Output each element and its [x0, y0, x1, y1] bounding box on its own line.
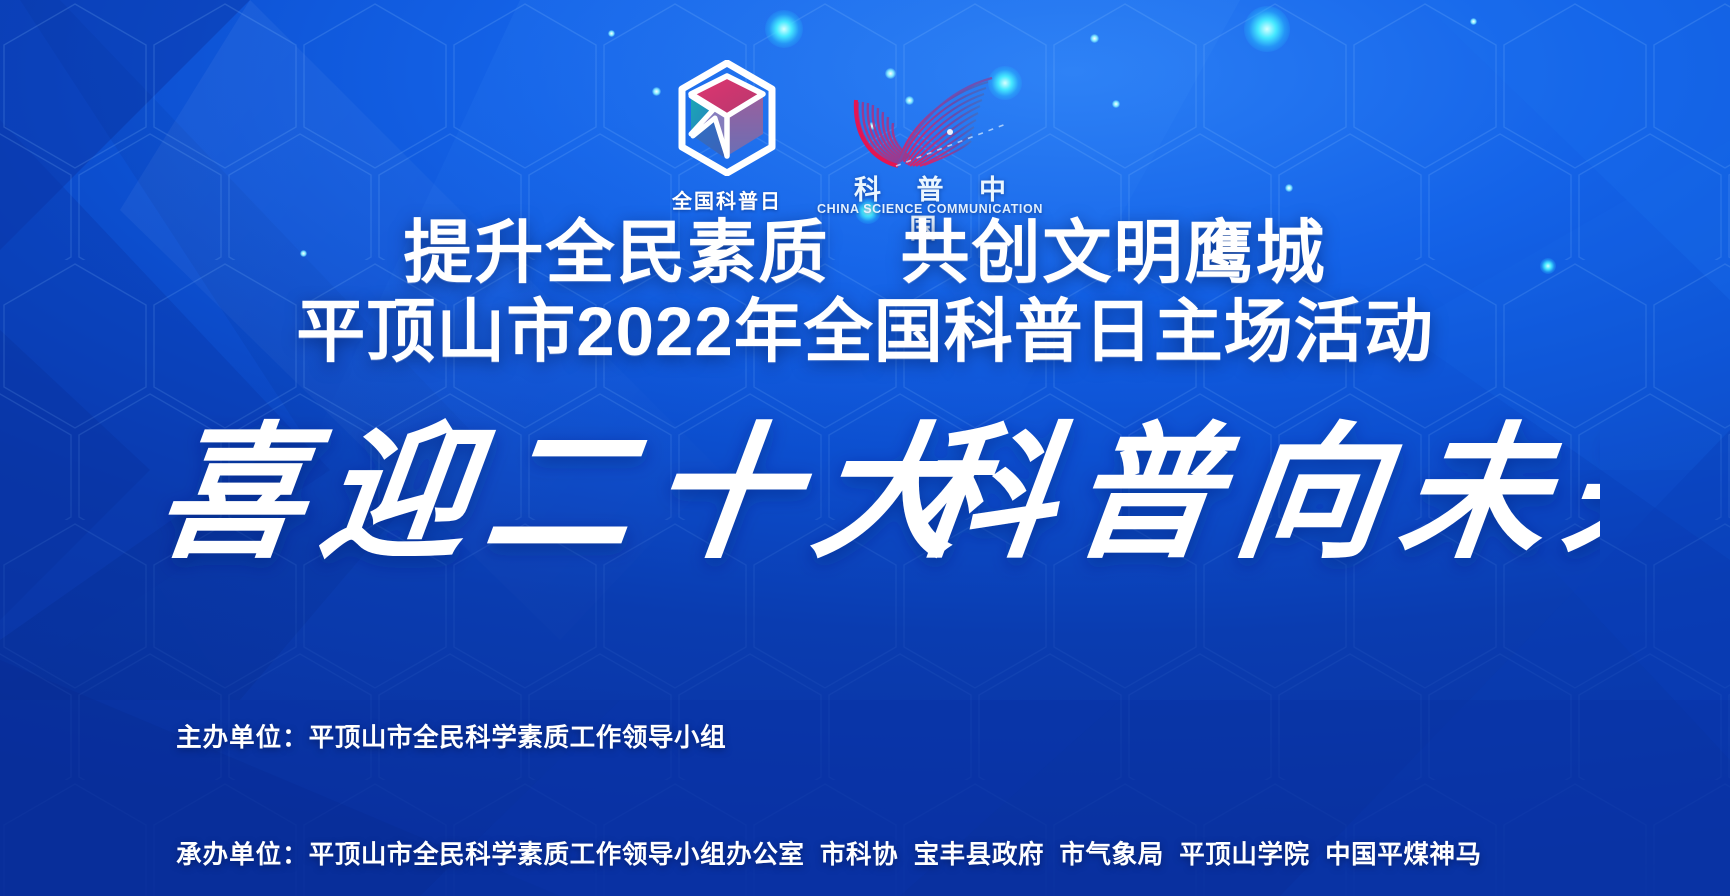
- open-cube-logo-icon: [675, 60, 779, 176]
- organizer-label: 主办单位：: [176, 724, 309, 752]
- national-science-day-label: 全国科普日: [663, 185, 791, 214]
- organizer-value: 平顶山市全民科学素质工作领导小组办公室 市科协 宝丰县政府 市气象局 平顶山学院…: [309, 841, 1482, 869]
- national-science-day-logo: 全国科普日: [663, 60, 791, 214]
- calligraphy-left-text: 喜迎二十大: [149, 407, 990, 579]
- butterfly-wing-logo-icon: [838, 60, 1038, 180]
- headline-line-2: 平顶山市2022年全国科普日主场活动: [0, 295, 1730, 368]
- logo-row: 全国科普日: [0, 56, 1730, 216]
- poster-canvas: 全国科普日: [0, 0, 1730, 896]
- headline-line-1: 提升全民素质 共创文明鹰城: [0, 216, 1730, 289]
- organizer-row: 主办单位：平顶山市全民科学素质工作领导小组: [130, 688, 1482, 783]
- organizer-list: 主办单位：平顶山市全民科学素质工作领导小组 承办单位：平顶山市全民科学素质工作领…: [130, 688, 1482, 896]
- organizer-value: 平顶山市全民科学素质工作领导小组: [309, 724, 727, 752]
- calligraphy-svg: 喜迎二十大 科普向未来: [130, 404, 1600, 594]
- organizer-label: 承办单位：: [176, 841, 309, 869]
- calligraphy-right-text: 科普向未来: [899, 407, 1600, 579]
- calligraphy-slogan: 喜迎二十大 科普向未来: [0, 404, 1730, 594]
- organizer-row: 承办单位：平顶山市全民科学素质工作领导小组办公室 市科协 宝丰县政府 市气象局 …: [130, 805, 1482, 896]
- headline-block: 提升全民素质 共创文明鹰城 平顶山市2022年全国科普日主场活动: [0, 216, 1730, 368]
